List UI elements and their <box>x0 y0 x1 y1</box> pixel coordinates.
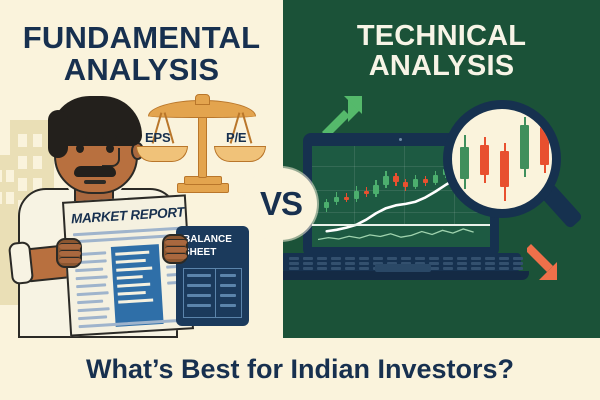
balance-sheet-row <box>187 274 211 277</box>
laptop-key <box>345 267 355 270</box>
finger <box>165 246 187 252</box>
laptop-key <box>331 257 341 260</box>
left-title-line1: FUNDAMENTAL <box>0 22 283 54</box>
laptop-key <box>499 267 509 270</box>
newspaper-text-line <box>75 268 103 273</box>
laptop-key <box>359 257 369 260</box>
laptop-key <box>289 267 299 270</box>
balance-sheet-row <box>220 294 236 297</box>
vs-badge: VS <box>245 168 317 240</box>
finger <box>59 257 81 263</box>
hair-side <box>48 110 68 158</box>
laptop-key <box>443 257 453 260</box>
left-panel-fundamental: MARKET REPORT <box>0 0 283 338</box>
laptop-key <box>513 267 523 270</box>
mustache <box>74 166 116 177</box>
right-title-line2: ANALYSIS <box>283 52 600 82</box>
market-report-newspaper: MARKET REPORT <box>62 194 194 336</box>
newspaper-text-line <box>77 300 103 305</box>
laptop-key <box>373 257 383 260</box>
newspaper-text-line <box>77 291 109 296</box>
scale-label-pe: P/E <box>226 130 246 145</box>
balance-sheet-title-line1: BALANCE <box>183 234 232 246</box>
laptop-key <box>289 257 299 260</box>
magnifier-lens <box>443 100 561 218</box>
scale-knob <box>195 94 210 105</box>
laptop-key <box>345 262 355 265</box>
left-panel-title: FUNDAMENTAL ANALYSIS <box>0 22 283 85</box>
laptop-key <box>359 267 369 270</box>
finger <box>165 239 187 245</box>
building-window <box>0 192 2 204</box>
laptop-key <box>485 267 495 270</box>
laptop-base-edge <box>283 271 529 280</box>
laptop-key <box>485 262 495 265</box>
laptop-key <box>415 257 425 260</box>
magnified-candle-body <box>540 127 549 165</box>
right-panel-technical: TECHNICAL ANALYSIS <box>283 0 600 338</box>
laptop-key <box>317 262 327 265</box>
balance-sheet-row <box>220 274 236 277</box>
newspaper-text-line <box>78 315 107 320</box>
newspaper-text-line <box>76 275 108 280</box>
balance-sheet-row <box>187 284 211 287</box>
left-title-line2: ANALYSIS <box>0 54 283 86</box>
building-window <box>0 170 2 182</box>
scale-pan-left <box>136 146 188 162</box>
shirt-cuff <box>8 241 34 285</box>
laptop-key <box>317 267 327 270</box>
magnified-candle-body <box>460 147 469 179</box>
magnified-candle-body <box>480 145 489 175</box>
laptop-key <box>457 267 467 270</box>
laptop-key <box>471 257 481 260</box>
balance-sheet-row <box>187 294 211 297</box>
laptop-key <box>457 257 467 260</box>
laptop-key <box>289 262 299 265</box>
laptop-key <box>513 262 523 265</box>
laptop-key <box>359 262 369 265</box>
finger <box>59 243 81 249</box>
scale-label-eps: EPS <box>145 130 170 145</box>
laptop-key <box>471 262 481 265</box>
newspaper-headline: MARKET REPORT <box>71 205 184 227</box>
balance-scale: EPS P/E <box>146 92 258 196</box>
laptop-key <box>443 267 453 270</box>
newspaper-text-line <box>76 283 106 288</box>
eye <box>76 144 84 153</box>
hand-left <box>56 238 82 268</box>
laptop-key <box>317 257 327 260</box>
balance-sheet-row <box>220 284 236 287</box>
footer-banner: What’s Best for Indian Investors? <box>0 338 600 400</box>
balance-sheet-title-line2: SHEET <box>183 247 216 259</box>
hand-right <box>162 234 188 264</box>
finger <box>165 253 187 259</box>
right-panel-title: TECHNICAL ANALYSIS <box>283 22 600 81</box>
laptop-key <box>513 257 523 260</box>
arrow-down-icon <box>527 238 575 286</box>
laptop-key <box>499 257 509 260</box>
laptop-key <box>485 257 495 260</box>
magnified-candle-body <box>500 151 509 187</box>
balance-sheet-row <box>220 304 236 307</box>
nose <box>102 148 120 167</box>
laptop-key <box>401 257 411 260</box>
laptop-key <box>387 257 397 260</box>
eyebrow <box>102 135 117 139</box>
mouth <box>84 180 106 184</box>
laptop-key <box>331 262 341 265</box>
laptop-key <box>457 262 467 265</box>
scale-pan-right <box>214 146 266 162</box>
laptop-key <box>429 257 439 260</box>
laptop-key <box>303 257 313 260</box>
balance-sheet-divider <box>215 268 216 318</box>
magnified-candle-body <box>520 125 529 169</box>
laptop-key <box>471 267 481 270</box>
eyebrow <box>72 135 87 139</box>
infographic-canvas: MARKET REPORT <box>0 0 600 400</box>
building-window <box>6 192 14 204</box>
laptop-key <box>499 262 509 265</box>
right-title-line1: TECHNICAL <box>283 22 600 52</box>
laptop-key <box>345 257 355 260</box>
laptop-key <box>443 262 453 265</box>
footer-question: What’s Best for Indian Investors? <box>86 354 514 385</box>
laptop-key <box>303 262 313 265</box>
magnifying-glass <box>443 100 573 235</box>
newspaper-text-line <box>78 307 110 312</box>
laptop-camera <box>399 138 402 141</box>
balance-sheet-row <box>187 304 211 307</box>
laptop-key <box>331 267 341 270</box>
laptop-trackpad <box>375 264 431 272</box>
laptop-key <box>303 267 313 270</box>
newspaper-text-line <box>73 234 169 243</box>
finger <box>59 250 81 256</box>
building-window <box>6 170 14 182</box>
